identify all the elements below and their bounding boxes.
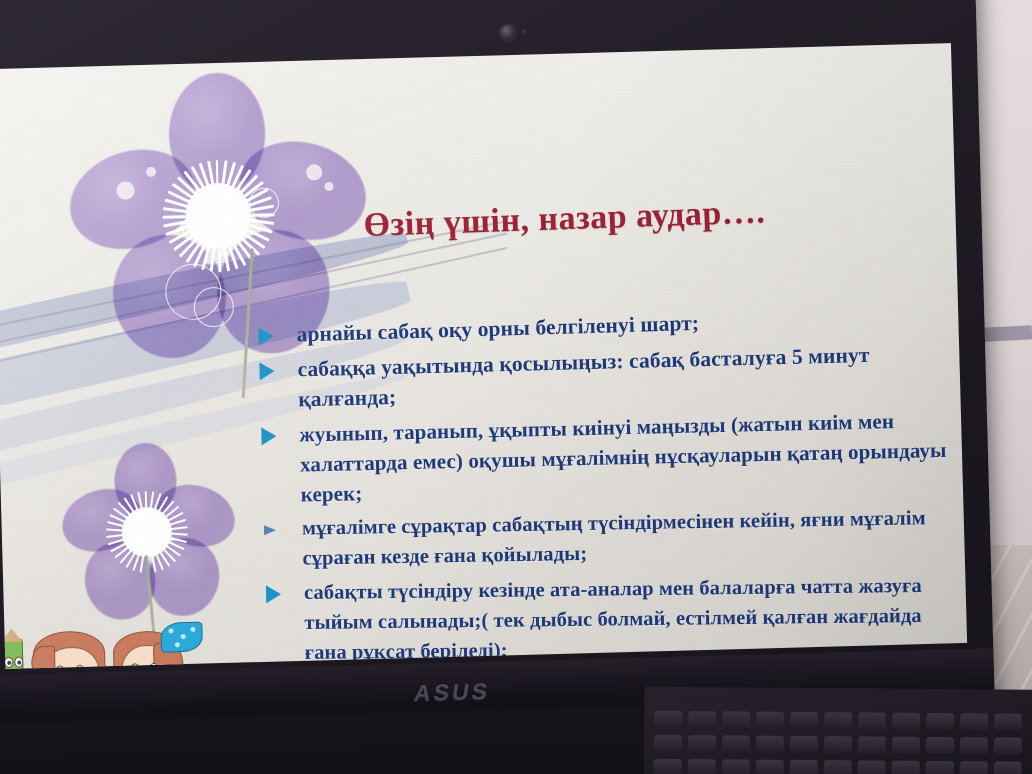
keyboard-key[interactable] <box>858 760 886 774</box>
list-item-text: жуынып, таранып, ұқыпты киінуі маңызды (… <box>299 409 947 506</box>
keyboard-key[interactable] <box>790 736 818 753</box>
keyboard-key[interactable] <box>824 712 852 729</box>
keyboard-key[interactable] <box>722 735 750 752</box>
keyboard-key[interactable] <box>994 737 1022 754</box>
keyboard-key[interactable] <box>654 735 682 752</box>
list-item: мұғалімге сұрақтар сабақтың түсіндірмесі… <box>260 503 961 575</box>
keyboard-key[interactable] <box>892 761 920 774</box>
keyboard-key[interactable] <box>790 712 818 729</box>
keyboard-key[interactable] <box>756 760 784 774</box>
keyboard-key[interactable] <box>654 759 682 774</box>
keyboard-key[interactable] <box>756 736 784 753</box>
keyboard-key[interactable] <box>688 759 716 774</box>
webcam-icon <box>500 25 515 40</box>
laptop-keyboard[interactable] <box>643 687 1032 774</box>
triangle-bullet-icon <box>258 327 274 345</box>
triangle-bullet-icon <box>264 525 276 535</box>
photograph-of-laptop-screen: Өзің үшін, назар аудар…. арнайы сабақ оқ… <box>0 0 1032 774</box>
triangle-bullet-icon <box>266 585 281 603</box>
keyboard-key[interactable] <box>722 759 750 774</box>
triangle-bullet-icon <box>259 362 274 380</box>
two-children-reading-illustration <box>0 615 231 669</box>
keyboard-key[interactable] <box>960 713 988 730</box>
keyboard-key[interactable] <box>960 737 988 754</box>
webcam-indicator-icon <box>522 30 526 34</box>
laptop-screen: Өзің үшін, назар аудар…. арнайы сабақ оқ… <box>0 43 967 669</box>
keyboard-key[interactable] <box>722 711 750 728</box>
keyboard-key[interactable] <box>960 761 988 774</box>
keyboard-key[interactable] <box>926 761 954 774</box>
keyboard-key[interactable] <box>926 713 954 730</box>
keyboard-key[interactable] <box>756 712 784 729</box>
keyboard-key[interactable] <box>858 712 886 729</box>
list-item: сабаққа уақытында қосылыңыз: сабақ баста… <box>255 338 956 416</box>
keyboard-key[interactable] <box>790 760 818 774</box>
keyboard-key[interactable] <box>824 760 852 774</box>
list-item-text: сабаққа уақытында қосылыңыз: сабақ баста… <box>297 343 870 411</box>
slide-bullet-list: арнайы сабақ оқу орны белгіленуі шарт; с… <box>254 301 963 669</box>
keyboard-key[interactable] <box>858 736 886 753</box>
keyboard-key[interactable] <box>926 737 954 754</box>
keyboard-key[interactable] <box>688 711 716 728</box>
keyboard-key[interactable] <box>994 713 1022 730</box>
flower-spike <box>218 246 221 272</box>
slide-title: Өзің үшін, назар аудар…. <box>363 188 924 245</box>
laptop-device: Өзің үшін, назар аудар…. арнайы сабақ оқ… <box>0 0 997 774</box>
keyboard-key[interactable] <box>994 761 1022 774</box>
keyboard-key[interactable] <box>654 711 682 728</box>
keyboard-key[interactable] <box>688 735 716 752</box>
brand-logo: ASUS <box>412 678 492 707</box>
triangle-bullet-icon <box>261 427 276 445</box>
keyboard-key[interactable] <box>892 713 920 730</box>
list-item: жуынып, таранып, ұқыпты киінуі маңызды (… <box>257 405 959 511</box>
keyboard-key[interactable] <box>824 736 852 753</box>
keyboard-key[interactable] <box>892 737 920 754</box>
list-item-text: мұғалімге сұрақтар сабақтың түсіндірмесі… <box>302 507 926 569</box>
